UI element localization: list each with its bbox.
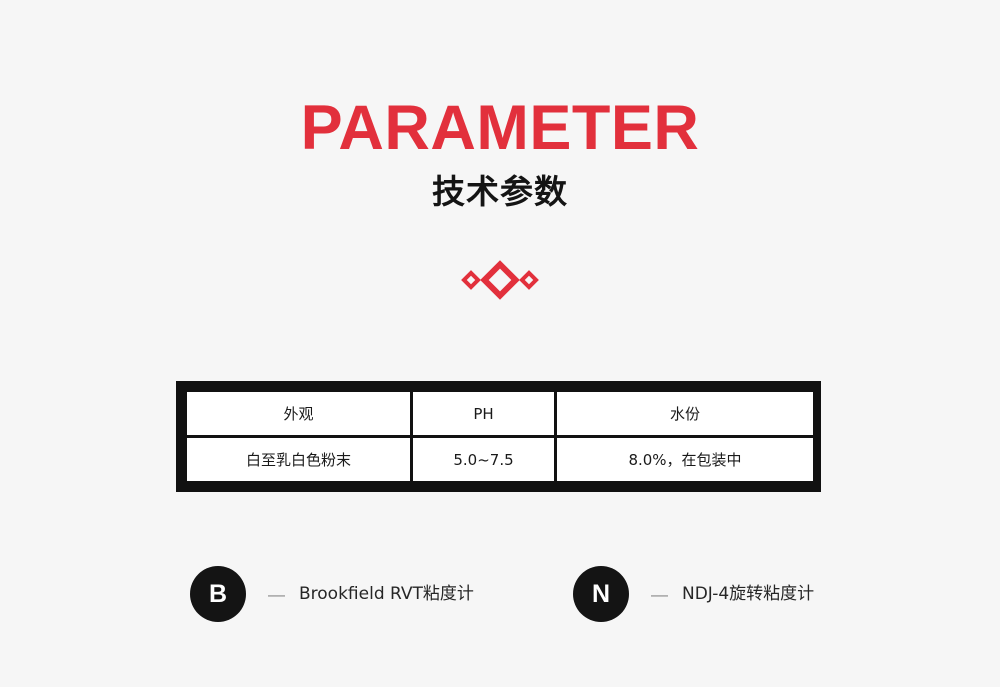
table-header-ph: PH <box>412 391 556 437</box>
footnote-separator: — <box>268 586 285 603</box>
small-diamond-right-icon <box>519 270 539 290</box>
small-diamond-left-icon <box>461 270 481 290</box>
table-cell-moisture: 8.0%，在包装中 <box>556 437 815 483</box>
table-row: 白至乳白色粉末 5.0~7.5 8.0%，在包装中 <box>186 437 815 483</box>
page-subtitle: 技术参数 <box>0 174 1000 210</box>
table-header-moisture: 水份 <box>556 391 815 437</box>
large-diamond-icon <box>480 260 520 300</box>
spec-table-frame: 外观 PH 水份 白至乳白色粉末 5.0~7.5 8.0%，在包装中 <box>176 381 821 492</box>
table-cell-ph: 5.0~7.5 <box>412 437 556 483</box>
table-header-row: 外观 PH 水份 <box>186 391 815 437</box>
footnote-brookfield: B — Brookfield RVT粘度计 <box>190 566 474 622</box>
footnote-separator: — <box>651 586 668 603</box>
spec-table: 外观 PH 水份 白至乳白色粉末 5.0~7.5 8.0%，在包装中 <box>184 389 816 484</box>
page-heading: PARAMETER 技术参数 <box>0 96 1000 210</box>
page-title: PARAMETER <box>0 96 1000 160</box>
footnote-brookfield-label: Brookfield RVT粘度计 <box>299 584 474 604</box>
parameter-page: PARAMETER 技术参数 外观 PH 水份 白至乳白色粉末 5.0~7.5 <box>0 0 1000 687</box>
diamond-divider <box>0 258 1000 302</box>
badge-b-icon: B <box>190 566 246 622</box>
footnote-ndj-label: NDJ-4旋转粘度计 <box>682 584 814 604</box>
table-cell-appearance: 白至乳白色粉末 <box>186 437 412 483</box>
badge-n-icon: N <box>573 566 629 622</box>
footnote-ndj: N — NDJ-4旋转粘度计 <box>573 566 814 622</box>
table-header-appearance: 外观 <box>186 391 412 437</box>
footnote-list: B — Brookfield RVT粘度计 N — NDJ-4旋转粘度计 <box>176 566 876 622</box>
